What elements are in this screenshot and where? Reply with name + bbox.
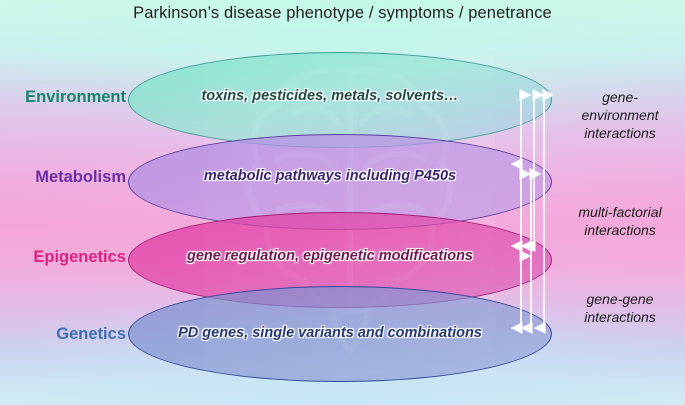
annotation-line: gene-gene bbox=[558, 290, 682, 308]
annotation-line: interactions bbox=[558, 308, 682, 326]
annotation-line: gene- bbox=[558, 88, 682, 106]
figure-canvas: Parkinson’s disease phenotype / symptoms… bbox=[0, 0, 685, 405]
annotation-line: environment bbox=[558, 106, 682, 124]
annotation-gene-gene: gene-gene interactions bbox=[558, 290, 682, 326]
annotation-line: interactions bbox=[558, 124, 682, 142]
annotation-line: multi-factorial bbox=[556, 203, 684, 221]
annotation-gene-environment: gene- environment interactions bbox=[558, 88, 682, 143]
annotation-multi-factorial: multi-factorial interactions bbox=[556, 203, 684, 239]
annotation-line: interactions bbox=[556, 221, 684, 239]
